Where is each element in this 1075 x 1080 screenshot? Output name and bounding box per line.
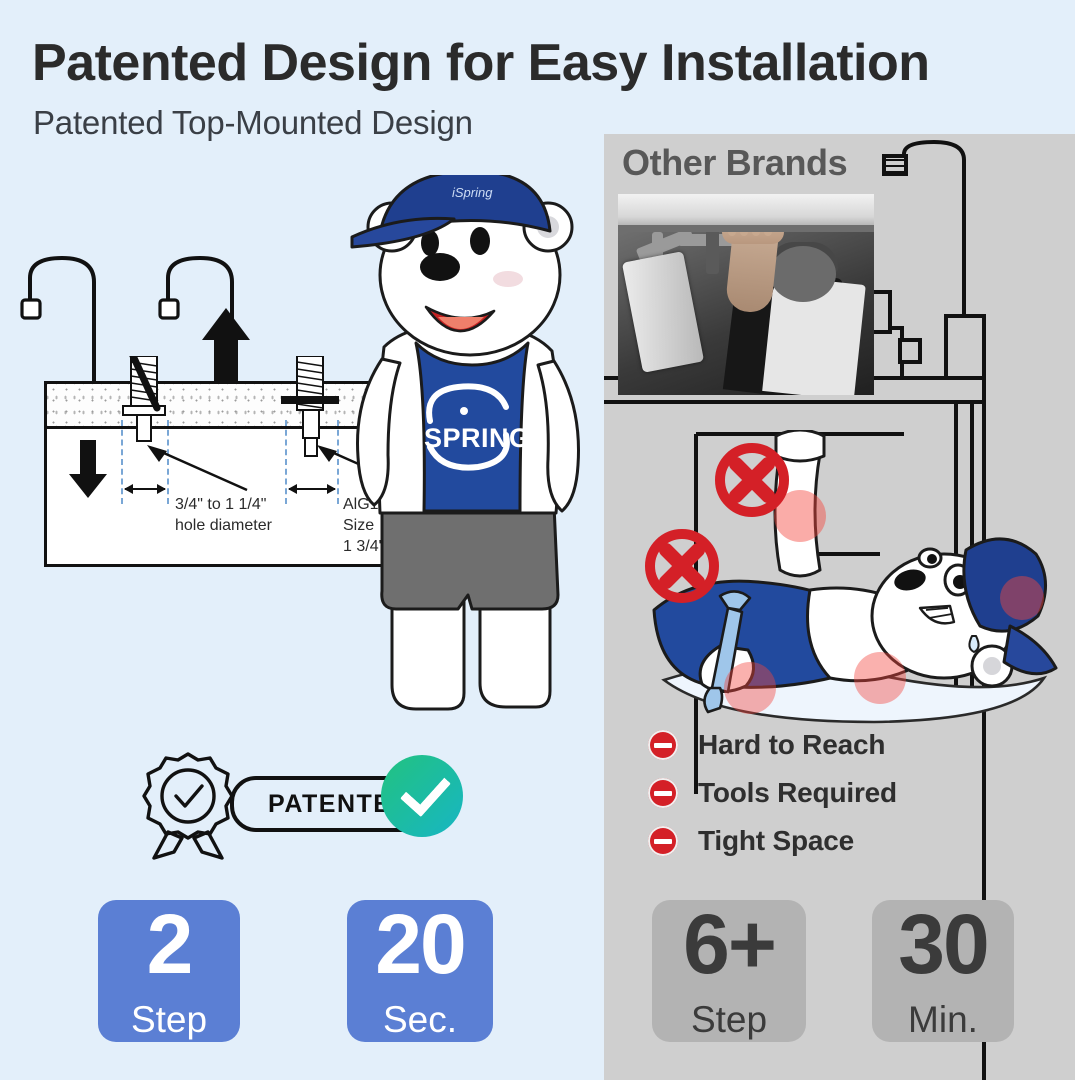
complaint-item: Tight Space: [648, 825, 897, 857]
red-x-stamp-bottom: [650, 534, 714, 598]
no-entry-icon: [648, 826, 678, 856]
stat-unit: Step: [98, 1001, 240, 1038]
cap-logo-text: iSpring: [452, 185, 493, 200]
complaint-label: Tight Space: [698, 825, 854, 857]
stat-number: 2: [98, 902, 240, 986]
stat-unit: Min.: [872, 1001, 1014, 1038]
stat-steps-ispring: 2 Step: [98, 900, 240, 1042]
dim-guide-1a: [121, 420, 123, 504]
mascot-bear-happy: iSpring iSPRING: [330, 175, 600, 735]
stat-time-ispring: 20 Sec.: [347, 900, 493, 1042]
stat-steps-other: 6+ Step: [652, 900, 806, 1042]
stat-unit: Sec.: [347, 1001, 493, 1038]
check-circle-icon: [381, 755, 463, 837]
stat-number: 6+: [652, 902, 806, 986]
stat-number: 20: [347, 902, 493, 986]
infographic-canvas: Patented Design for Easy Installation Pa…: [0, 0, 1075, 1080]
complaints-list: Hard to Reach Tools Required Tight Space: [648, 729, 897, 873]
up-arrow-icon: [202, 308, 250, 390]
svg-text:iSPRING: iSPRING: [416, 423, 531, 453]
stat-time-other: 30 Min.: [872, 900, 1014, 1042]
other-brands-title: Other Brands: [622, 142, 847, 184]
plumber-under-sink-photo: [618, 194, 874, 395]
complaint-label: Hard to Reach: [698, 729, 885, 761]
page-subtitle: Patented Top-Mounted Design: [33, 104, 473, 142]
stat-unit: Step: [652, 1001, 806, 1038]
page-title: Patented Design for Easy Installation: [32, 36, 1062, 90]
dim-guide-2a: [285, 420, 287, 504]
mascot-bear-frustrated: ing: [624, 430, 1074, 730]
complaint-item: Hard to Reach: [648, 729, 897, 761]
award-ribbon-icon: [140, 748, 236, 860]
down-arrow-icon: [67, 440, 109, 500]
no-entry-icon: [648, 730, 678, 760]
leader-arrow-1: [143, 442, 253, 494]
red-x-stamp-top: [720, 448, 784, 512]
complaint-item: Tools Required: [648, 777, 897, 809]
no-entry-icon: [648, 778, 678, 808]
stat-number: 30: [872, 902, 1014, 986]
complaint-label: Tools Required: [698, 777, 897, 809]
dimension-label-1: 3/4" to 1 1/4" hole diameter: [175, 494, 272, 536]
